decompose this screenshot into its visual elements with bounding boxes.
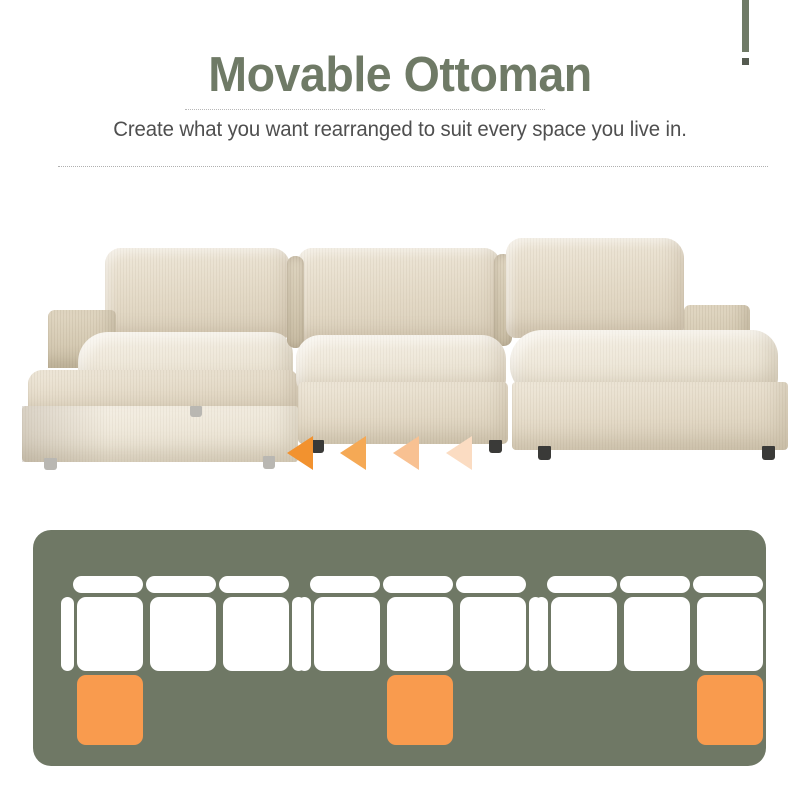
backrest-pill [219,576,289,593]
ottoman-module [697,675,763,745]
armrest-pill [61,597,74,671]
divider-top [185,109,545,110]
backrest-pill [310,576,380,593]
sofa-foot-right-front [538,446,551,460]
sofa-foot-left-front [44,458,57,470]
backrest-pill [693,576,763,593]
backrest-pill [620,576,690,593]
configuration-diagram-panel [33,530,766,766]
seat-module [551,597,617,671]
config-ottoman-left [61,576,276,711]
seat-module [697,597,763,671]
backrest-pill [547,576,617,593]
ottoman-module [77,675,143,745]
backrest-pill [383,576,453,593]
sofa-left-back-cushion [105,248,290,340]
seat-module [77,597,143,671]
sofa-middle-base [298,382,508,444]
page-title: Movable Ottoman [20,50,780,101]
sofa-right-chaise-base [512,382,788,450]
backrest-pill [456,576,526,593]
exclamation-bar [742,0,749,52]
sofa-foot-left-mid [190,406,202,417]
movement-chevron-4 [446,436,472,470]
armrest-pill [535,597,548,671]
movement-chevron-1 [287,436,313,470]
seat-module [460,597,526,671]
config-ottoman-center [298,576,513,711]
backrest-pill [146,576,216,593]
seat-module [624,597,690,671]
page-subtitle: Create what you want rearranged to suit … [12,118,788,142]
sofa-foot-middle-right [489,440,502,453]
seat-module [314,597,380,671]
sofa-product-photo [0,210,800,500]
sofa-middle-back-gap-left [287,256,304,348]
config-ottoman-right [535,576,750,711]
sofa-foot-right-rear [762,446,775,460]
armrest-pill [298,597,311,671]
armrest-pill [766,597,779,671]
sofa-right-back-cushion [506,238,684,338]
infographic-page: Movable Ottoman Create what you want rea… [0,0,800,800]
movement-chevron-3 [393,436,419,470]
seat-module [150,597,216,671]
sofa-middle-back-cushion [298,248,500,344]
sofa-left-base-shade [22,406,108,462]
seat-module [223,597,289,671]
seat-module [387,597,453,671]
sofa-foot-left-rear [263,456,275,469]
backrest-pill [73,576,143,593]
divider-bottom [58,166,768,167]
movement-chevron-2 [340,436,366,470]
ottoman-module [387,675,453,745]
